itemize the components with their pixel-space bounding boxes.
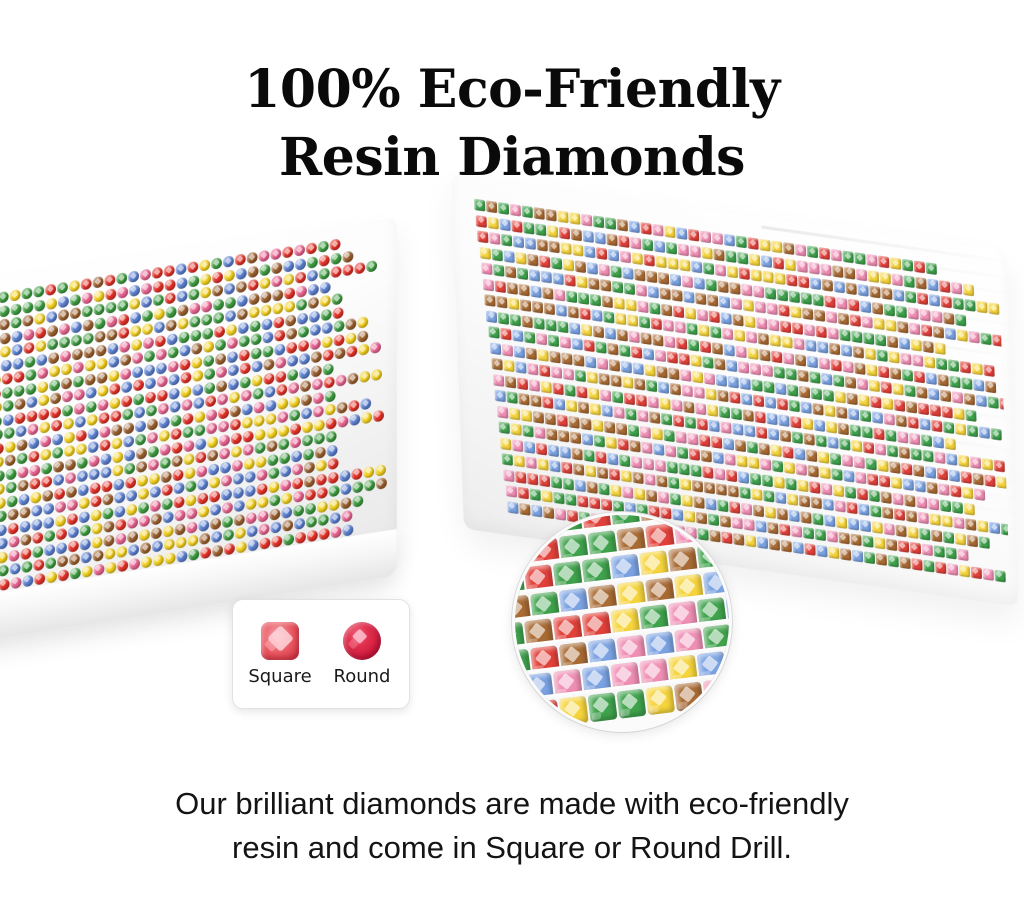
drill-bead bbox=[814, 419, 825, 432]
drill-bead bbox=[836, 297, 847, 310]
drill-bead bbox=[953, 297, 964, 310]
drill-bead bbox=[52, 433, 63, 446]
drill-bead bbox=[87, 427, 98, 440]
drill-bead bbox=[212, 544, 223, 557]
drill-bead bbox=[583, 449, 594, 462]
drill-bead bbox=[259, 523, 270, 536]
drill-bead bbox=[632, 362, 643, 375]
drill-bead bbox=[192, 369, 203, 382]
drill-bead bbox=[824, 405, 835, 418]
drill-bead bbox=[123, 435, 134, 448]
drill-bead bbox=[259, 263, 270, 276]
drill-bead bbox=[787, 274, 798, 287]
drill-bead bbox=[316, 473, 327, 486]
drill-bead bbox=[890, 257, 901, 270]
drill-bead bbox=[165, 292, 176, 305]
drill-bead bbox=[607, 343, 618, 356]
drill-bead bbox=[783, 242, 794, 255]
drill-bead bbox=[646, 270, 657, 283]
drill-bead bbox=[227, 350, 238, 363]
drill-bead bbox=[604, 421, 615, 434]
drill-bead bbox=[173, 482, 184, 495]
drill-bead bbox=[713, 248, 724, 261]
drill-bead bbox=[120, 367, 131, 380]
drill-bead bbox=[748, 456, 759, 469]
legend-item-round[interactable]: Round bbox=[323, 622, 401, 687]
drill-bead bbox=[243, 430, 254, 443]
drill-bead bbox=[258, 509, 269, 522]
drill-bead bbox=[972, 472, 983, 485]
drill-bead bbox=[834, 390, 845, 403]
drill-bead bbox=[544, 412, 555, 425]
drill-bead bbox=[244, 457, 255, 470]
drill-bead bbox=[244, 471, 255, 484]
drill-bead bbox=[333, 306, 344, 319]
drill-bead bbox=[896, 524, 907, 537]
drill-bead bbox=[719, 296, 730, 309]
drill-bead bbox=[269, 494, 280, 507]
drill-bead bbox=[612, 500, 623, 513]
drill-bead bbox=[863, 332, 874, 345]
drill-bead bbox=[824, 295, 835, 308]
drill-bead bbox=[313, 405, 324, 418]
drill-bead bbox=[235, 527, 246, 540]
drill-bead bbox=[332, 293, 343, 306]
drill-bead bbox=[90, 495, 101, 508]
drill-bead bbox=[340, 469, 351, 482]
drill-bead bbox=[955, 313, 966, 326]
drill-bead bbox=[281, 492, 292, 505]
drill-bead bbox=[496, 296, 507, 309]
drill-bead bbox=[771, 241, 782, 254]
drill-bead bbox=[207, 435, 218, 448]
drill-bead bbox=[624, 282, 635, 295]
drill-bead bbox=[979, 536, 990, 549]
drill-bead bbox=[223, 529, 234, 542]
drill-bead bbox=[602, 405, 613, 418]
drill-bead bbox=[921, 434, 932, 447]
drill-bead bbox=[833, 484, 844, 497]
drill-bead bbox=[264, 385, 275, 398]
drill-bead bbox=[206, 422, 217, 435]
drill-bead bbox=[663, 319, 674, 332]
drill-bead bbox=[773, 366, 784, 379]
drill-bead bbox=[292, 463, 303, 476]
page-title: 100% Eco-Friendly Resin Diamonds bbox=[0, 56, 1024, 192]
drill-bead bbox=[661, 413, 672, 426]
drill-bead bbox=[856, 268, 867, 281]
drill-bead bbox=[243, 443, 254, 456]
drill-bead bbox=[683, 291, 694, 304]
drill-bead bbox=[749, 253, 760, 266]
drill-bead bbox=[660, 397, 671, 410]
drill-bead bbox=[675, 431, 686, 444]
drill-bead bbox=[588, 277, 599, 290]
drill-bead bbox=[600, 498, 611, 511]
drill-bead bbox=[485, 294, 496, 307]
drill-bead bbox=[840, 548, 851, 561]
drill-bead bbox=[481, 262, 492, 275]
drill-bead bbox=[103, 507, 114, 520]
drill-bead bbox=[19, 493, 30, 506]
drill-bead bbox=[639, 316, 650, 329]
drill-bead bbox=[826, 530, 837, 543]
drill-bead bbox=[513, 236, 524, 249]
drill-bead bbox=[60, 349, 71, 362]
drill-bead bbox=[829, 343, 840, 356]
drill-bead bbox=[500, 328, 511, 341]
drill-bead bbox=[593, 435, 604, 448]
drill-bead bbox=[651, 318, 662, 331]
drill-bead bbox=[32, 531, 43, 544]
drill-bead bbox=[707, 294, 718, 307]
drill-bead bbox=[545, 209, 556, 222]
drill-bead bbox=[497, 405, 508, 418]
drill-bead bbox=[7, 508, 18, 521]
drill-bead bbox=[839, 328, 850, 341]
drill-bead bbox=[89, 468, 100, 481]
drill-bead bbox=[877, 459, 888, 472]
drill-bead bbox=[0, 551, 8, 564]
drill-bead bbox=[238, 321, 249, 334]
drill-bead bbox=[880, 381, 891, 394]
drill-bead bbox=[612, 281, 623, 294]
drill-bead bbox=[160, 443, 171, 456]
drill-bead bbox=[897, 430, 908, 443]
drill-bead bbox=[317, 486, 328, 499]
drill-bead bbox=[58, 295, 69, 308]
drill-bead bbox=[622, 267, 633, 280]
drill-bead bbox=[188, 548, 199, 561]
drill-bead bbox=[979, 426, 990, 439]
drill-bead bbox=[517, 267, 528, 280]
drill-bead bbox=[100, 439, 111, 452]
drill-bead bbox=[259, 537, 270, 550]
drill-bead bbox=[959, 564, 970, 577]
drill-bead bbox=[115, 518, 126, 531]
drill-bead bbox=[282, 519, 293, 532]
drill-bead bbox=[36, 353, 47, 366]
drill-bead bbox=[193, 383, 204, 396]
drill-bead bbox=[301, 393, 312, 406]
drill-bead bbox=[552, 272, 563, 285]
drill-bead bbox=[987, 396, 998, 409]
drill-bead bbox=[518, 283, 529, 296]
drill-bead bbox=[359, 370, 370, 383]
drill-bead bbox=[68, 539, 79, 552]
drill-bead bbox=[843, 360, 854, 373]
drill-bead bbox=[804, 543, 815, 556]
drill-bead bbox=[595, 451, 606, 464]
drill-bead bbox=[756, 426, 767, 439]
drill-bead bbox=[125, 476, 136, 489]
drill-bead bbox=[951, 282, 962, 295]
drill-bead bbox=[661, 303, 672, 316]
drill-bead bbox=[507, 282, 518, 295]
drill-bead bbox=[923, 450, 934, 463]
drill-bead bbox=[799, 385, 810, 398]
drill-bead bbox=[668, 257, 679, 270]
drill-bead bbox=[945, 437, 956, 450]
drill-bead bbox=[622, 376, 633, 389]
drill-bead bbox=[54, 487, 65, 500]
drill-bead bbox=[183, 426, 194, 439]
drill-bead bbox=[283, 533, 294, 546]
drill-bead bbox=[641, 332, 652, 345]
drill-bead bbox=[566, 290, 577, 303]
drill-bead bbox=[498, 202, 509, 215]
drill-bead bbox=[813, 512, 824, 525]
drill-bead bbox=[563, 477, 574, 490]
drill-bead bbox=[124, 449, 135, 462]
drill-bead bbox=[24, 355, 35, 368]
drill-bead bbox=[590, 403, 601, 416]
drill-bead bbox=[955, 533, 966, 546]
drill-bead bbox=[512, 439, 523, 452]
drill-bead bbox=[617, 438, 628, 451]
drill-bead bbox=[75, 415, 86, 428]
drill-bead bbox=[16, 425, 27, 438]
drill-bead bbox=[712, 232, 723, 245]
drill-bead bbox=[0, 442, 3, 455]
drill-bead bbox=[152, 267, 163, 280]
drill-bead bbox=[673, 305, 684, 318]
drill-bead bbox=[247, 525, 258, 538]
legend-item-square[interactable]: Square bbox=[241, 622, 319, 687]
drill-bead bbox=[263, 345, 274, 358]
drill-bead bbox=[250, 333, 261, 346]
drill-bead bbox=[727, 375, 738, 388]
drill-bead bbox=[828, 546, 839, 559]
drill-bead bbox=[809, 261, 820, 274]
drill-bead bbox=[948, 359, 959, 372]
drill-bead bbox=[11, 316, 22, 329]
drill-bead bbox=[0, 510, 6, 523]
drill-bead bbox=[520, 299, 531, 312]
drill-bead bbox=[958, 455, 969, 468]
drill-bead bbox=[364, 479, 375, 492]
drill-bead bbox=[48, 351, 59, 364]
drill-bead bbox=[711, 436, 722, 449]
drill-bead bbox=[872, 411, 883, 424]
drill-bead bbox=[88, 454, 99, 467]
drill-bead bbox=[557, 211, 568, 224]
drill-bead bbox=[130, 311, 141, 324]
drill-bead bbox=[676, 227, 687, 240]
drill-bead bbox=[902, 369, 913, 382]
drill-bead bbox=[216, 379, 227, 392]
drill-bead bbox=[299, 366, 310, 379]
drill-bead bbox=[213, 298, 224, 311]
drill-bead bbox=[600, 279, 611, 292]
drill-bead bbox=[235, 253, 246, 266]
drill-bead bbox=[145, 377, 156, 390]
drill-bead bbox=[700, 231, 711, 244]
drill-bead bbox=[346, 345, 357, 358]
drill-bead bbox=[828, 436, 839, 449]
drill-bead bbox=[366, 260, 377, 273]
drill-bead bbox=[921, 543, 932, 556]
drill-bead bbox=[591, 309, 602, 322]
drill-bead bbox=[568, 416, 579, 429]
drill-bead bbox=[131, 338, 142, 351]
drill-bead bbox=[134, 406, 145, 419]
drill-bead bbox=[546, 318, 557, 331]
drill-bead bbox=[753, 285, 764, 298]
drill-bead bbox=[129, 284, 140, 297]
drill-bead bbox=[944, 328, 955, 341]
drill-bead bbox=[965, 518, 976, 531]
drill-bead bbox=[23, 314, 34, 327]
drill-bead bbox=[965, 299, 976, 312]
drill-bead bbox=[649, 302, 660, 315]
drill-bead bbox=[902, 259, 913, 272]
drill-bead bbox=[352, 467, 363, 480]
drill-bead bbox=[260, 277, 271, 290]
drill-bead bbox=[687, 323, 698, 336]
drill-bead bbox=[92, 536, 103, 549]
drill-bead bbox=[109, 369, 120, 382]
drill-bead bbox=[7, 495, 18, 508]
drill-bead bbox=[759, 239, 770, 252]
drill-bead bbox=[135, 420, 146, 433]
drill-bead bbox=[279, 451, 290, 464]
drill-bead bbox=[514, 455, 525, 468]
drill-bead bbox=[151, 526, 162, 539]
drill-bead bbox=[539, 474, 550, 487]
drill-bead bbox=[198, 505, 209, 518]
drill-bead bbox=[27, 409, 38, 422]
drill-bead bbox=[202, 327, 213, 340]
drill-bead bbox=[784, 461, 795, 474]
drill-bead bbox=[163, 524, 174, 537]
drill-bead bbox=[193, 397, 204, 410]
drill-bead bbox=[678, 462, 689, 475]
drill-bead bbox=[118, 313, 129, 326]
drill-bead bbox=[799, 495, 810, 508]
drill-bead bbox=[94, 303, 105, 316]
drill-bead bbox=[33, 559, 44, 572]
drill-bead bbox=[619, 344, 630, 357]
drill-bead bbox=[51, 419, 62, 432]
drill-bead bbox=[5, 454, 16, 467]
drill-bead bbox=[175, 523, 186, 536]
drill-bead bbox=[904, 384, 915, 397]
drill-bead bbox=[911, 338, 922, 351]
drill-bead bbox=[197, 478, 208, 491]
drill-bead bbox=[793, 338, 804, 351]
drill-bead bbox=[875, 443, 886, 456]
drill-bead bbox=[748, 347, 759, 360]
drill-bead bbox=[636, 284, 647, 297]
drill-bead bbox=[184, 453, 195, 466]
drill-bead bbox=[741, 283, 752, 296]
drill-bead bbox=[181, 398, 192, 411]
drill-bead bbox=[914, 480, 925, 493]
drill-bead bbox=[559, 336, 570, 349]
drill-bead bbox=[811, 497, 822, 510]
drill-bead bbox=[181, 385, 192, 398]
drill-bead bbox=[83, 332, 94, 345]
drill-bead bbox=[221, 488, 232, 501]
drill-bead bbox=[736, 236, 747, 249]
drill-bead bbox=[593, 216, 604, 229]
drill-bead bbox=[176, 276, 187, 289]
drill-bead bbox=[862, 425, 873, 438]
drill-bead bbox=[750, 472, 761, 485]
drill-bead bbox=[991, 428, 1002, 441]
drill-bead bbox=[295, 531, 306, 544]
drill-shape-legend: Square Round bbox=[232, 599, 410, 709]
drill-bead bbox=[149, 486, 160, 499]
drill-bead bbox=[640, 222, 651, 235]
drill-bead bbox=[634, 268, 645, 281]
drill-bead bbox=[267, 453, 278, 466]
drill-bead bbox=[478, 231, 489, 244]
drill-bead bbox=[939, 280, 950, 293]
drill-bead bbox=[286, 327, 297, 340]
drill-bead bbox=[561, 462, 572, 475]
drill-bead bbox=[0, 537, 7, 550]
drill-bead bbox=[941, 405, 952, 418]
drill-bead bbox=[923, 559, 934, 572]
drill-bead bbox=[989, 522, 1000, 535]
closeup-drill-bead bbox=[588, 692, 618, 722]
drill-bead bbox=[222, 501, 233, 514]
drill-bead bbox=[277, 411, 288, 424]
drill-bead bbox=[158, 416, 169, 429]
drill-bead bbox=[257, 482, 268, 495]
drill-bead bbox=[155, 334, 166, 347]
drill-bead bbox=[795, 244, 806, 257]
drill-bead bbox=[21, 287, 32, 300]
drill-bead bbox=[88, 441, 99, 454]
drill-bead bbox=[115, 505, 126, 518]
drill-bead bbox=[560, 446, 571, 459]
drill-bead bbox=[67, 512, 78, 525]
drill-bead bbox=[168, 373, 179, 386]
drill-bead bbox=[275, 343, 286, 356]
drill-bead bbox=[0, 456, 4, 469]
drill-bead bbox=[189, 288, 200, 301]
drill-bead bbox=[229, 405, 240, 418]
drill-bead bbox=[819, 466, 830, 479]
drill-bead bbox=[150, 499, 161, 512]
drill-bead bbox=[522, 206, 533, 219]
drill-bead bbox=[561, 242, 572, 255]
drill-bead bbox=[214, 325, 225, 338]
drill-bead bbox=[865, 348, 876, 361]
drill-bead bbox=[250, 319, 261, 332]
drill-bead bbox=[342, 523, 353, 536]
drill-bead bbox=[901, 462, 912, 475]
drill-bead bbox=[951, 391, 962, 404]
drill-bead bbox=[111, 423, 122, 436]
drill-bead bbox=[563, 368, 574, 381]
drill-bead bbox=[573, 354, 584, 367]
drill-bead bbox=[341, 496, 352, 509]
drill-bead bbox=[884, 413, 895, 426]
drill-bead bbox=[319, 267, 330, 280]
drill-bead bbox=[489, 232, 500, 245]
drill-bead bbox=[641, 441, 652, 454]
drill-bead bbox=[869, 489, 880, 502]
drill-bead bbox=[119, 326, 130, 339]
drill-bead bbox=[802, 527, 813, 540]
drill-bead bbox=[271, 261, 282, 274]
drill-bead bbox=[170, 414, 181, 427]
drill-bead bbox=[899, 337, 910, 350]
